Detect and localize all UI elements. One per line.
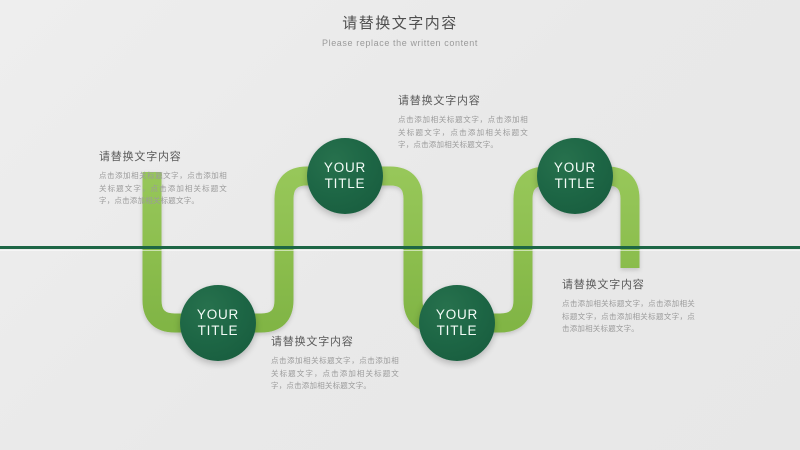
node-1-line-1: YOUR (324, 160, 366, 176)
text-block-1: 请替换文字内容 点击添加相关标题文字，点击添加相关标题文字，点击添加相关标题文字… (99, 149, 227, 208)
node-3-line-1: YOUR (436, 307, 478, 323)
node-4-line-2: TITLE (555, 176, 596, 192)
timeline-ribbon-graphic (0, 0, 800, 450)
text-block-1-body: 点击添加相关标题文字，点击添加相关标题文字，点击添加相关标题文字，点击添加相关标… (99, 170, 227, 208)
timeline-node-1[interactable]: YOUR TITLE (307, 138, 383, 214)
node-2-line-2: TITLE (198, 323, 239, 339)
slide-canvas: 请替换文字内容 Please replace the written conte… (0, 0, 800, 450)
text-block-2: 请替换文字内容 点击添加相关标题文字，点击添加相关标题文字，点击添加相关标题文字… (398, 93, 528, 152)
text-block-4-body: 点击添加相关标题文字，点击添加相关标题文字，点击添加相关标题文字，点击添加相关标… (562, 298, 695, 336)
node-1-line-2: TITLE (325, 176, 366, 192)
timeline-node-2[interactable]: YOUR TITLE (180, 285, 256, 361)
node-2-line-1: YOUR (197, 307, 239, 323)
text-block-4: 请替换文字内容 点击添加相关标题文字，点击添加相关标题文字，点击添加相关标题文字… (562, 277, 695, 336)
node-4-line-1: YOUR (554, 160, 596, 176)
text-block-3: 请替换文字内容 点击添加相关标题文字，点击添加相关标题文字，点击添加相关标题文字… (271, 334, 399, 393)
text-block-4-title: 请替换文字内容 (562, 277, 695, 293)
text-block-2-title: 请替换文字内容 (398, 93, 528, 109)
timeline-node-4[interactable]: YOUR TITLE (537, 138, 613, 214)
node-3-line-2: TITLE (437, 323, 478, 339)
text-block-3-title: 请替换文字内容 (271, 334, 399, 350)
text-block-3-body: 点击添加相关标题文字，点击添加相关标题文字，点击添加相关标题文字，点击添加相关标… (271, 355, 399, 393)
text-block-2-body: 点击添加相关标题文字，点击添加相关标题文字，点击添加相关标题文字，点击添加相关标… (398, 114, 528, 152)
text-block-1-title: 请替换文字内容 (99, 149, 227, 165)
timeline-node-3[interactable]: YOUR TITLE (419, 285, 495, 361)
